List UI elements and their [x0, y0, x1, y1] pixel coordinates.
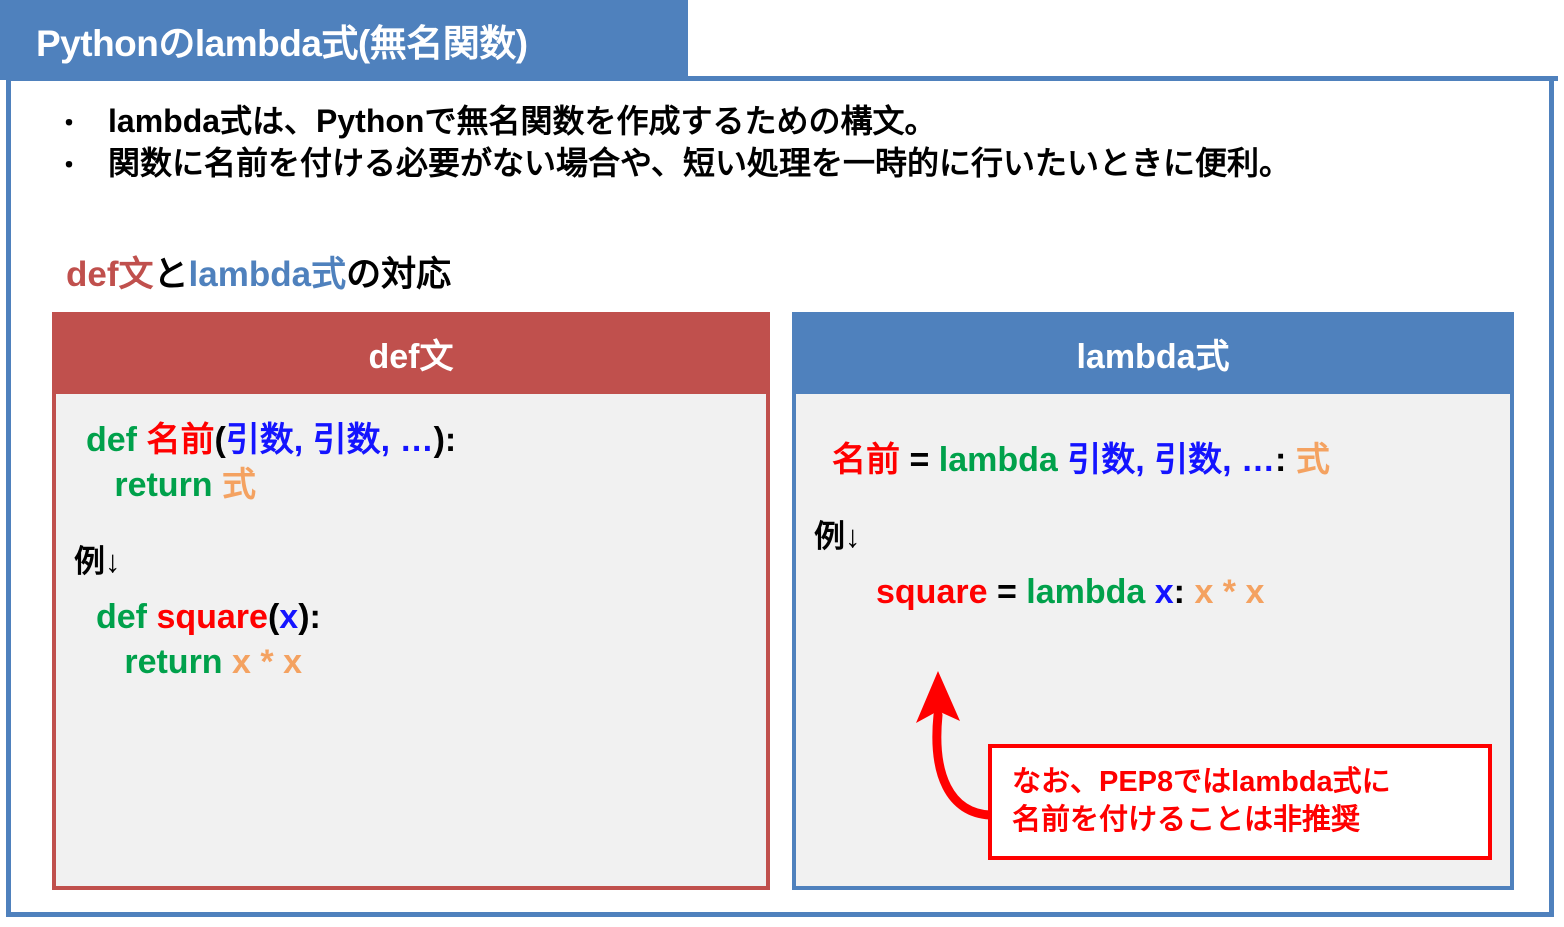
code-token-expr: x * x	[232, 643, 302, 681]
callout-line: なお、PEP8ではlambda式に	[1012, 764, 1488, 802]
code-token-arg: 引数, 引数, …	[226, 421, 434, 459]
def-example-code: def square(x): return x * x	[96, 595, 748, 685]
code-token-kw: def	[86, 421, 146, 459]
code-token-punct: :	[1174, 573, 1195, 611]
callout-line: 名前を付けることは非推奨	[1012, 802, 1488, 840]
code-token-arg: x	[1155, 573, 1174, 611]
lambda-syntax-code: 名前 = lambda 引数, 引数, …: 式	[832, 438, 1492, 483]
bullet-dot-icon: ・	[56, 148, 108, 182]
lambda-example-code: square = lambda x: x * x	[876, 570, 1492, 615]
code-token-name: 名前	[146, 421, 214, 459]
code-line: return x * x	[96, 640, 748, 685]
section-heading-conj: と	[154, 255, 189, 294]
code-token-name: square	[876, 573, 988, 611]
code-token-arg: x	[279, 598, 298, 636]
code-token-eq: =	[988, 573, 1027, 611]
slide-title-bar: Pythonのlambda式(無名関数)	[0, 0, 688, 80]
code-token-expr: 式	[1296, 441, 1330, 479]
page-title: Pythonのlambda式(無名関数)	[0, 13, 528, 67]
code-token-kw: return	[86, 466, 222, 504]
code-token-kw: lambda	[1026, 573, 1154, 611]
panel-def-header: def文	[52, 312, 770, 394]
code-token-punct: ):	[434, 421, 457, 459]
slide: Pythonのlambda式(無名関数) ・ lambda式は、Pythonで無…	[0, 0, 1564, 927]
code-line: def 名前(引数, 引数, …):	[86, 418, 748, 463]
bullet-dot-icon: ・	[56, 106, 108, 140]
panel-def-statement: def文 def 名前(引数, 引数, …): return 式 例↓ def …	[52, 312, 770, 890]
code-token-punct: :	[1275, 441, 1296, 479]
code-token-name: 名前	[832, 441, 900, 479]
code-token-kw: return	[96, 643, 232, 681]
bullet-text: 関数に名前を付ける必要がない場合や、短い処理を一時的に行いたいときに便利。	[108, 142, 1291, 184]
section-heading-lambda: lambda式	[189, 255, 347, 294]
bullet-list: ・ lambda式は、Pythonで無名関数を作成するための構文。 ・ 関数に名…	[56, 100, 1526, 184]
def-syntax-code: def 名前(引数, 引数, …): return 式	[86, 418, 748, 508]
list-item: ・ lambda式は、Pythonで無名関数を作成するための構文。	[56, 100, 1526, 142]
panel-lambda-header: lambda式	[792, 312, 1514, 394]
code-line: return 式	[86, 463, 748, 508]
code-line: 名前 = lambda 引数, 引数, …: 式	[832, 438, 1492, 483]
code-line: square = lambda x: x * x	[876, 570, 1492, 615]
code-token-punct: (	[214, 421, 225, 459]
bullet-text: lambda式は、Pythonで無名関数を作成するための構文。	[108, 100, 936, 142]
section-heading-def: def文	[66, 255, 154, 294]
code-token-kw: def	[96, 598, 156, 636]
code-token-expr: x * x	[1194, 573, 1264, 611]
list-item: ・ 関数に名前を付ける必要がない場合や、短い処理を一時的に行いたいときに便利。	[56, 142, 1526, 184]
section-heading-suffix: の対応	[346, 255, 451, 294]
code-token-name: square	[156, 598, 268, 636]
example-marker: 例↓	[74, 536, 748, 581]
section-heading: def文とlambda式の対応	[66, 246, 451, 297]
code-token-punct: ):	[298, 598, 321, 636]
panel-def-body: def 名前(引数, 引数, …): return 式 例↓ def squar…	[52, 394, 770, 890]
code-token-kw: lambda	[939, 441, 1067, 479]
code-token-punct: (	[268, 598, 279, 636]
slide-outline-top	[686, 76, 1558, 81]
callout-note: なお、PEP8ではlambda式に 名前を付けることは非推奨	[988, 744, 1492, 860]
code-token-eq: =	[900, 441, 939, 479]
code-token-arg: 引数, 引数, …	[1067, 441, 1275, 479]
code-line: def square(x):	[96, 595, 748, 640]
example-marker: 例↓	[814, 511, 1492, 556]
code-token-expr: 式	[222, 466, 256, 504]
